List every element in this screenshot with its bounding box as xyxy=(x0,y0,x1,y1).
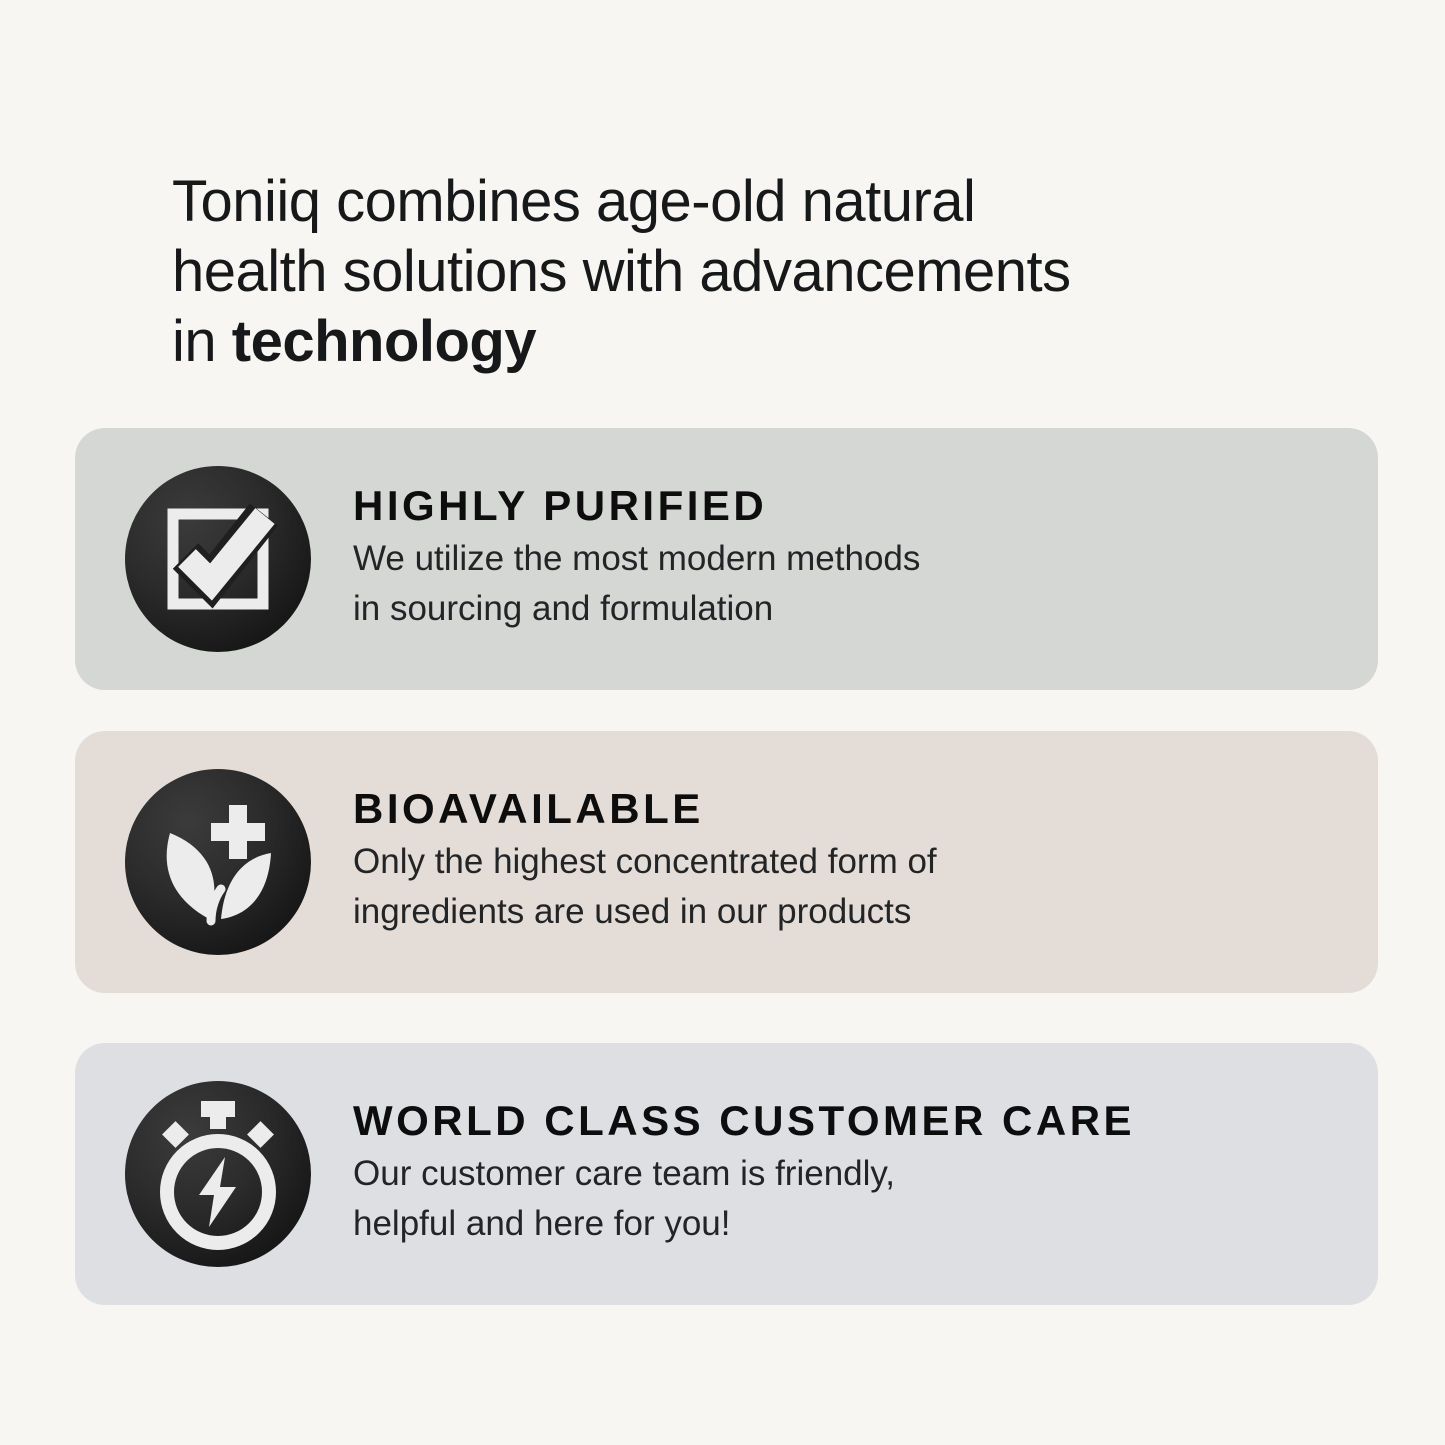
headline-line-3-emphasis: technology xyxy=(232,309,536,374)
leaves-plus-icon-wrapper xyxy=(125,769,311,955)
feature-card-highly-purified: HIGHLY PURIFIED We utilize the most mode… xyxy=(75,428,1378,690)
card-description-line-2: in sourcing and formulation xyxy=(353,584,1338,634)
card-description-line-1: We utilize the most modern methods xyxy=(353,534,1338,584)
card-description: Our customer care team is friendly, help… xyxy=(353,1149,1338,1249)
feature-card-world-class-customer-care: WORLD CLASS CUSTOMER CARE Our customer c… xyxy=(75,1043,1378,1305)
feature-card-bioavailable: BIOAVAILABLE Only the highest concentrat… xyxy=(75,731,1378,993)
headline-line-3-prefix: in xyxy=(172,309,232,374)
card-description-line-1: Our customer care team is friendly, xyxy=(353,1149,1338,1199)
card-title: HIGHLY PURIFIED xyxy=(353,484,1338,528)
card-description: We utilize the most modern methods in so… xyxy=(353,534,1338,634)
leaves-plus-icon xyxy=(125,769,311,955)
feature-highlights-page: Toniiq combines age-old natural health s… xyxy=(0,0,1445,1445)
card-description-line-1: Only the highest concentrated form of xyxy=(353,837,1338,887)
headline-line-2: health solutions with advancements xyxy=(172,239,1071,304)
card-text-block: HIGHLY PURIFIED We utilize the most mode… xyxy=(353,484,1378,634)
card-text-block: BIOAVAILABLE Only the highest concentrat… xyxy=(353,787,1378,937)
checkbox-check-icon xyxy=(125,466,311,652)
card-description: Only the highest concentrated form of in… xyxy=(353,837,1338,937)
checkbox-check-icon-wrapper xyxy=(125,466,311,652)
headline-line-1: Toniiq combines age-old natural xyxy=(172,169,975,234)
stopwatch-bolt-icon xyxy=(125,1081,311,1267)
card-text-block: WORLD CLASS CUSTOMER CARE Our customer c… xyxy=(353,1099,1378,1249)
page-title: Toniiq combines age-old natural health s… xyxy=(172,167,1182,377)
card-description-line-2: helpful and here for you! xyxy=(353,1199,1338,1249)
card-description-line-2: ingredients are used in our products xyxy=(353,887,1338,937)
card-title: WORLD CLASS CUSTOMER CARE xyxy=(353,1099,1338,1143)
card-title: BIOAVAILABLE xyxy=(353,787,1338,831)
stopwatch-bolt-icon-wrapper xyxy=(125,1081,311,1267)
